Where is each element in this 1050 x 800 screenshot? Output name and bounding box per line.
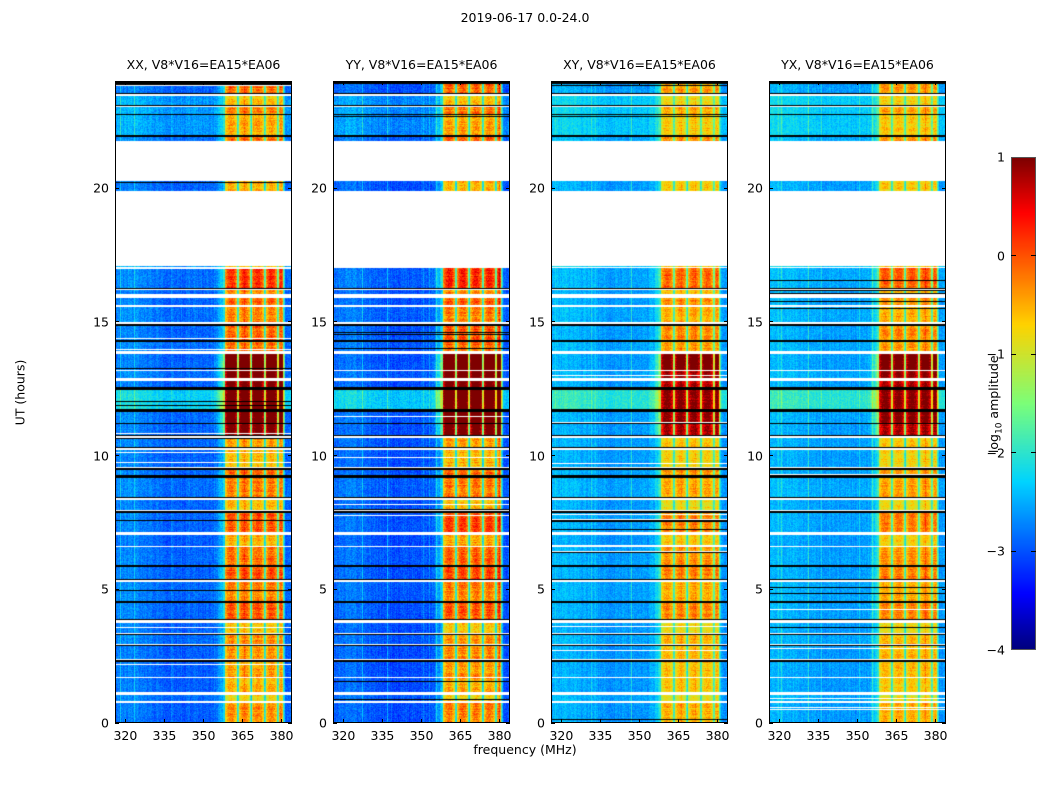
x-tick-mark xyxy=(896,719,897,723)
y-tick-mark xyxy=(115,455,119,456)
x-tick-mark xyxy=(343,719,344,723)
y-tick-label: 5 xyxy=(81,582,109,597)
x-tick-mark xyxy=(460,719,461,723)
x-tick-mark xyxy=(935,81,936,85)
x-tick-mark xyxy=(818,719,819,723)
y-tick-mark xyxy=(551,321,555,322)
figure-suptitle: 2019-06-17 0.0-24.0 xyxy=(0,10,1050,25)
y-tick-mark xyxy=(724,723,728,724)
x-tick-label: 335 xyxy=(807,728,831,743)
y-tick-label: 15 xyxy=(517,314,545,329)
x-tick-label: 335 xyxy=(153,728,177,743)
y-tick-mark xyxy=(288,321,292,322)
y-tick-mark xyxy=(942,321,946,322)
y-tick-mark xyxy=(724,455,728,456)
x-tick-mark xyxy=(242,719,243,723)
colorbar-tick-mark xyxy=(1031,452,1036,453)
x-tick-label: 380 xyxy=(488,728,512,743)
x-tick-label: 320 xyxy=(331,728,355,743)
x-tick-mark xyxy=(343,81,344,85)
x-tick-mark xyxy=(460,81,461,85)
colorbar-tick-mark xyxy=(1011,551,1016,552)
x-tick-mark xyxy=(499,719,500,723)
waterfall-panel-xy[interactable] xyxy=(551,81,728,723)
y-tick-label: 10 xyxy=(735,448,763,463)
colorbar-tick-mark xyxy=(1011,354,1016,355)
y-tick-mark xyxy=(333,723,337,724)
y-tick-mark xyxy=(115,723,119,724)
x-tick-mark xyxy=(164,81,165,85)
dynamic-spectrum-image-yx xyxy=(770,82,945,722)
y-axis-label: UT (hours) xyxy=(13,313,28,473)
y-tick-mark xyxy=(506,321,510,322)
x-tick-label: 350 xyxy=(192,728,216,743)
y-tick-mark xyxy=(551,455,555,456)
colorbar-tick-mark xyxy=(1011,452,1016,453)
y-tick-mark xyxy=(506,723,510,724)
x-tick-mark xyxy=(639,81,640,85)
y-tick-mark xyxy=(333,188,337,189)
y-tick-mark xyxy=(551,188,555,189)
y-tick-mark xyxy=(942,589,946,590)
y-tick-mark xyxy=(506,188,510,189)
x-tick-mark xyxy=(717,719,718,723)
waterfall-panel-yx[interactable] xyxy=(769,81,946,723)
y-tick-label: 10 xyxy=(81,448,109,463)
y-tick-mark xyxy=(769,723,773,724)
x-tick-mark xyxy=(779,719,780,723)
y-tick-mark xyxy=(724,321,728,322)
x-tick-mark xyxy=(857,719,858,723)
colorbar-tick-mark xyxy=(1031,255,1036,256)
x-tick-mark xyxy=(242,81,243,85)
y-tick-mark xyxy=(769,321,773,322)
dynamic-spectrum-image-yy xyxy=(334,82,509,722)
y-tick-label: 15 xyxy=(735,314,763,329)
y-tick-mark xyxy=(769,188,773,189)
y-tick-label: 20 xyxy=(517,181,545,196)
x-tick-mark xyxy=(639,719,640,723)
x-tick-label: 320 xyxy=(767,728,791,743)
x-tick-label: 350 xyxy=(846,728,870,743)
y-tick-mark xyxy=(333,455,337,456)
x-tick-mark xyxy=(203,719,204,723)
colorbar[interactable] xyxy=(1011,157,1036,650)
waterfall-panel-yy[interactable] xyxy=(333,81,510,723)
x-tick-label: 320 xyxy=(549,728,573,743)
x-tick-mark xyxy=(421,719,422,723)
y-tick-mark xyxy=(288,455,292,456)
colorbar-tick-label: −3 xyxy=(969,544,1005,559)
colorbar-tick-label: 0 xyxy=(969,248,1005,263)
dynamic-spectrum-image-xx xyxy=(116,82,291,722)
y-tick-label: 10 xyxy=(517,448,545,463)
y-tick-mark xyxy=(724,188,728,189)
x-tick-mark xyxy=(382,719,383,723)
x-tick-label: 335 xyxy=(371,728,395,743)
x-tick-mark xyxy=(382,81,383,85)
x-tick-mark xyxy=(421,81,422,85)
y-tick-label: 5 xyxy=(299,582,327,597)
x-tick-mark xyxy=(561,81,562,85)
x-axis-label: frequency (MHz) xyxy=(0,742,1050,757)
x-tick-mark xyxy=(857,81,858,85)
x-tick-label: 365 xyxy=(449,728,473,743)
x-tick-label: 365 xyxy=(231,728,255,743)
x-tick-label: 350 xyxy=(410,728,434,743)
y-tick-mark xyxy=(506,589,510,590)
y-tick-mark xyxy=(724,589,728,590)
y-tick-mark xyxy=(942,455,946,456)
y-tick-mark xyxy=(506,455,510,456)
y-tick-mark xyxy=(115,589,119,590)
x-tick-mark xyxy=(499,81,500,85)
x-tick-mark xyxy=(125,81,126,85)
colorbar-label: log10 amplitude xyxy=(986,314,1005,494)
y-tick-mark xyxy=(288,188,292,189)
x-tick-label: 380 xyxy=(924,728,948,743)
y-tick-label: 20 xyxy=(735,181,763,196)
waterfall-panel-xx[interactable] xyxy=(115,81,292,723)
x-tick-label: 335 xyxy=(589,728,613,743)
y-tick-label: 0 xyxy=(517,716,545,731)
y-tick-mark xyxy=(333,321,337,322)
y-tick-mark xyxy=(333,589,337,590)
colorbar-tick-mark xyxy=(1011,255,1016,256)
x-tick-mark xyxy=(600,719,601,723)
x-tick-mark xyxy=(281,81,282,85)
colorbar-tick-label: 1 xyxy=(969,150,1005,165)
y-tick-mark xyxy=(115,188,119,189)
y-tick-mark xyxy=(115,321,119,322)
y-tick-mark xyxy=(288,723,292,724)
y-tick-label: 15 xyxy=(81,314,109,329)
x-tick-mark xyxy=(678,81,679,85)
colorbar-tick-mark xyxy=(1031,354,1036,355)
x-tick-label: 365 xyxy=(885,728,909,743)
y-tick-label: 5 xyxy=(735,582,763,597)
y-tick-label: 15 xyxy=(299,314,327,329)
x-tick-mark xyxy=(203,81,204,85)
y-tick-label: 5 xyxy=(517,582,545,597)
colorbar-tick-label: −4 xyxy=(969,643,1005,658)
x-tick-mark xyxy=(935,719,936,723)
x-tick-label: 350 xyxy=(628,728,652,743)
x-tick-mark xyxy=(561,719,562,723)
y-tick-mark xyxy=(551,589,555,590)
y-tick-label: 10 xyxy=(299,448,327,463)
x-tick-mark xyxy=(818,81,819,85)
x-tick-label: 365 xyxy=(667,728,691,743)
y-tick-label: 0 xyxy=(735,716,763,731)
y-tick-mark xyxy=(942,188,946,189)
x-tick-label: 320 xyxy=(113,728,137,743)
x-tick-label: 380 xyxy=(706,728,730,743)
colorbar-tick-mark xyxy=(1031,551,1036,552)
figure-canvas: 2019-06-17 0.0-24.0 XX, V8*V16=EA15*EA06… xyxy=(0,0,1050,800)
x-tick-mark xyxy=(717,81,718,85)
y-tick-label: 20 xyxy=(299,181,327,196)
y-tick-mark xyxy=(288,589,292,590)
x-tick-label: 380 xyxy=(270,728,294,743)
colorbar-label-text: log10 amplitude xyxy=(986,355,1001,453)
y-tick-mark xyxy=(769,589,773,590)
x-tick-mark xyxy=(678,719,679,723)
y-tick-mark xyxy=(551,723,555,724)
x-tick-mark xyxy=(779,81,780,85)
x-tick-mark xyxy=(896,81,897,85)
y-tick-mark xyxy=(942,723,946,724)
x-tick-mark xyxy=(281,719,282,723)
dynamic-spectrum-image-xy xyxy=(552,82,727,722)
y-tick-label: 20 xyxy=(81,181,109,196)
x-tick-mark xyxy=(125,719,126,723)
x-tick-mark xyxy=(600,81,601,85)
y-tick-label: 0 xyxy=(81,716,109,731)
panel-title-yx: YX, V8*V16=EA15*EA06 xyxy=(728,57,988,72)
y-tick-mark xyxy=(769,455,773,456)
y-tick-label: 0 xyxy=(299,716,327,731)
x-tick-mark xyxy=(164,719,165,723)
